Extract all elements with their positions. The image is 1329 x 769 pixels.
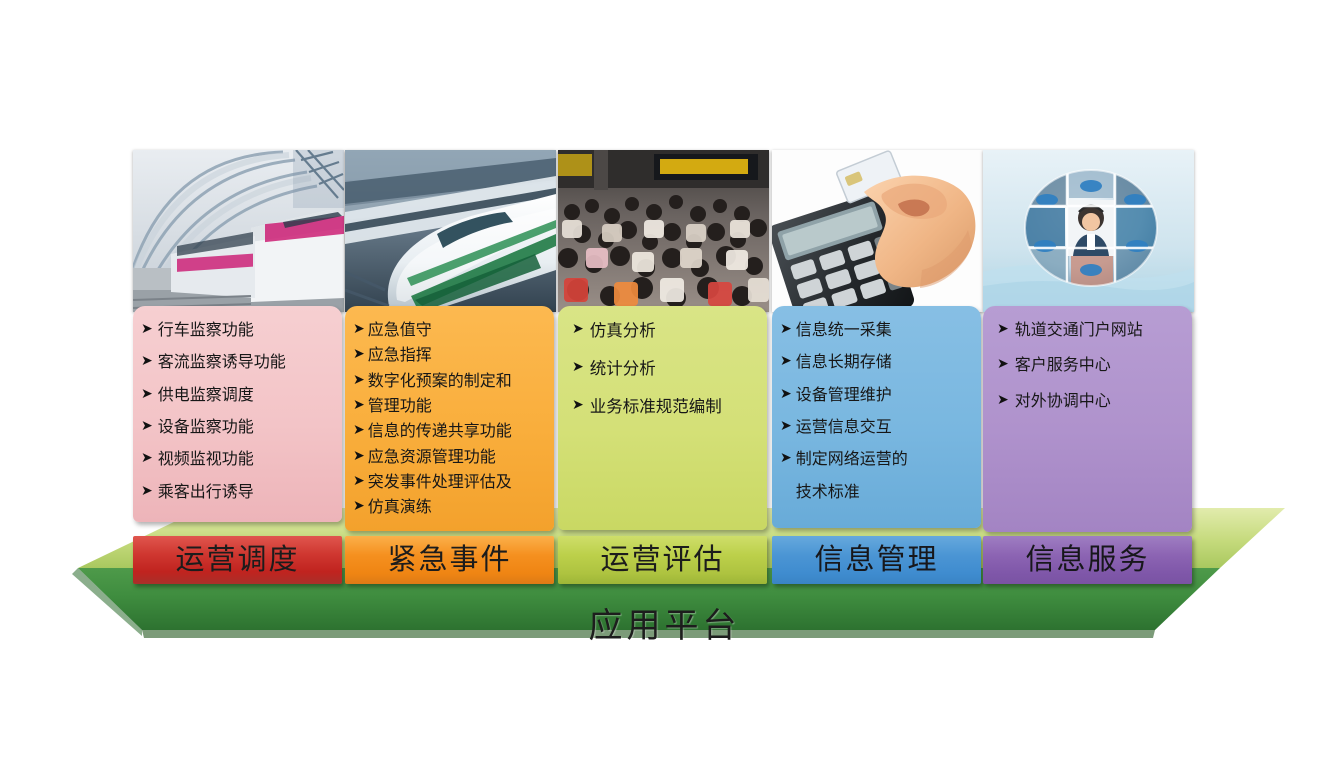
- list-item-label: 客流监察诱导功能: [158, 350, 336, 374]
- list-item-label: 应急资源管理功能: [368, 445, 548, 469]
- list-item-label: 设备管理维护: [796, 383, 975, 407]
- column-emergency-events: ➤ 应急值守 ➤ 应急指挥 ➤ 数字化预案的制定和 ➤ 管理功能: [345, 150, 560, 531]
- high-speed-train-photo: [345, 150, 556, 312]
- list-item-label: 轨道交通门户网站: [1015, 318, 1186, 342]
- list-item[interactable]: ➤ 数字化预案的制定和: [353, 369, 548, 393]
- pillar-label-emergency-events[interactable]: 紧急事件: [345, 536, 554, 584]
- arrow-bullet-icon: ➤: [780, 383, 792, 406]
- list-item[interactable]: ➤ 管理功能: [353, 394, 548, 418]
- platform-title: 应用平台: [0, 598, 1329, 647]
- arrow-bullet-icon: ➤: [353, 318, 365, 341]
- list-item[interactable]: ➤ 轨道交通门户网站: [997, 318, 1186, 342]
- column-operation-evaluation: ➤ 仿真分析 ➤ 统计分析 ➤ 业务标准规范编制: [558, 150, 773, 530]
- bullet-list-operation-dispatch: ➤ 行车监察功能 ➤ 客流监察诱导功能 ➤ 供电监察调度 ➤ 设备监察功能: [141, 318, 336, 504]
- arrow-bullet-icon: ➤: [997, 353, 1009, 376]
- list-item[interactable]: ➤ 视频监视功能: [141, 447, 336, 471]
- arrow-bullet-icon: ➤: [997, 318, 1009, 341]
- bullet-list-operation-evaluation: ➤ 仿真分析 ➤ 统计分析 ➤ 业务标准规范编制: [566, 318, 761, 419]
- column-operation-dispatch: ➤ 行车监察功能 ➤ 客流监察诱导功能 ➤ 供电监察调度 ➤ 设备监察功能: [133, 150, 348, 522]
- arrow-bullet-icon: ➤: [141, 480, 153, 503]
- column-information-management: ➤ 信息统一采集 ➤ 信息长期存储 ➤ 设备管理维护 ➤ 运营信息交互: [772, 150, 987, 528]
- list-item[interactable]: ➤ 仿真演练: [353, 495, 548, 519]
- arrow-bullet-icon: ➤: [353, 343, 365, 366]
- list-item-label: 突发事件处理评估及: [368, 470, 548, 494]
- pillar-label-text: 信息管理: [814, 545, 938, 576]
- arrow-bullet-icon: ➤: [353, 394, 365, 417]
- arrow-bullet-icon: ➤: [780, 350, 792, 373]
- bullet-list-information-service: ➤ 轨道交通门户网站 ➤ 客户服务中心 ➤ 对外协调中心: [997, 318, 1186, 413]
- list-item[interactable]: ➤ 信息统一采集: [780, 318, 975, 342]
- list-item[interactable]: ➤ 突发事件处理评估及: [353, 470, 548, 494]
- list-item[interactable]: ➤ 设备管理维护: [780, 383, 975, 407]
- list-item-label: 信息的传递共享功能: [368, 419, 548, 443]
- pillar-label-text: 运营评估: [600, 545, 724, 576]
- arrow-bullet-icon: ➤: [353, 470, 365, 493]
- subway-station-photo: [133, 150, 344, 312]
- list-item-label: 仿真分析: [590, 318, 761, 343]
- list-item[interactable]: ➤ 设备监察功能: [141, 415, 336, 439]
- pillar-columns: ➤ 行车监察功能 ➤ 客流监察诱导功能 ➤ 供电监察调度 ➤ 设备监察功能: [0, 0, 1329, 769]
- list-item[interactable]: ➤ 应急资源管理功能: [353, 445, 548, 469]
- pillar-label-information-management[interactable]: 信息管理: [772, 536, 981, 584]
- panel-information-management: ➤ 信息统一采集 ➤ 信息长期存储 ➤ 设备管理维护 ➤ 运营信息交互: [772, 306, 981, 528]
- list-item[interactable]: ➤ 信息的传递共享功能: [353, 419, 548, 443]
- list-item-label: 对外协调中心: [1015, 389, 1186, 413]
- list-item[interactable]: ➤ 客流监察诱导功能: [141, 350, 336, 374]
- list-item-label: 管理功能: [368, 394, 548, 418]
- pillar-label-text: 运营调度: [175, 545, 299, 576]
- list-item[interactable]: ➤ 统计分析: [572, 356, 761, 381]
- arrow-bullet-icon: ➤: [997, 389, 1009, 412]
- list-item[interactable]: ➤ 客户服务中心: [997, 353, 1186, 377]
- list-item-label: 应急值守: [368, 318, 548, 342]
- panel-information-service: ➤ 轨道交通门户网站 ➤ 客户服务中心 ➤ 对外协调中心: [983, 306, 1192, 532]
- list-item[interactable]: ➤ 仿真分析: [572, 318, 761, 343]
- list-item-label: 信息长期存储: [796, 350, 975, 374]
- pos-terminal-hand-photo: [772, 150, 983, 312]
- arrow-bullet-icon: ➤: [780, 415, 792, 438]
- list-item[interactable]: ➤ 应急值守: [353, 318, 548, 342]
- list-item-label: 信息统一采集: [796, 318, 975, 342]
- list-item-label: 客户服务中心: [1015, 353, 1186, 377]
- arrow-bullet-icon: ➤: [141, 350, 153, 373]
- list-item[interactable]: ➤ 技术标准: [780, 480, 975, 504]
- list-item-label: 供电监察调度: [158, 383, 336, 407]
- arrow-bullet-icon: ➤: [572, 394, 584, 417]
- crowded-platform-photo: [558, 150, 769, 312]
- panel-emergency-events: ➤ 应急值守 ➤ 应急指挥 ➤ 数字化预案的制定和 ➤ 管理功能: [345, 306, 554, 531]
- arrow-bullet-icon: ➤: [141, 318, 153, 341]
- arrow-bullet-icon: ➤: [572, 356, 584, 379]
- list-item[interactable]: ➤ 信息长期存储: [780, 350, 975, 374]
- arrow-bullet-icon: ➤: [353, 369, 365, 392]
- panel-operation-evaluation: ➤ 仿真分析 ➤ 统计分析 ➤ 业务标准规范编制: [558, 306, 767, 530]
- list-item-label: 运营信息交互: [796, 415, 975, 439]
- arrow-bullet-icon: ➤: [141, 447, 153, 470]
- pillar-label-text: 信息服务: [1025, 545, 1149, 576]
- list-item[interactable]: ➤ 业务标准规范编制: [572, 394, 761, 419]
- column-information-service: ➤ 轨道交通门户网站 ➤ 客户服务中心 ➤ 对外协调中心: [983, 150, 1198, 532]
- list-item[interactable]: ➤ 供电监察调度: [141, 383, 336, 407]
- arrow-bullet-icon: ➤: [572, 318, 584, 341]
- list-item[interactable]: ➤ 对外协调中心: [997, 389, 1186, 413]
- arrow-bullet-icon: ➤: [780, 318, 792, 341]
- arrow-bullet-icon: ➤: [780, 447, 792, 470]
- list-item[interactable]: ➤ 行车监察功能: [141, 318, 336, 342]
- list-item-label: 数字化预案的制定和: [368, 369, 548, 393]
- global-service-sphere-photo: [983, 150, 1194, 312]
- list-item-label: 技术标准: [796, 480, 975, 504]
- pillar-label-operation-dispatch[interactable]: 运营调度: [133, 536, 342, 584]
- list-item-label: 业务标准规范编制: [590, 394, 761, 419]
- list-item-label: 仿真演练: [368, 495, 548, 519]
- pillar-label-information-service[interactable]: 信息服务: [983, 536, 1192, 584]
- list-item-label: 应急指挥: [368, 343, 548, 367]
- bullet-list-information-management: ➤ 信息统一采集 ➤ 信息长期存储 ➤ 设备管理维护 ➤ 运营信息交互: [780, 318, 975, 504]
- list-item-label: 统计分析: [590, 356, 761, 381]
- arrow-bullet-icon: ➤: [353, 495, 365, 518]
- arrow-bullet-icon: ➤: [141, 415, 153, 438]
- list-item-label: 乘客出行诱导: [158, 480, 336, 504]
- arrow-bullet-icon: ➤: [353, 445, 365, 468]
- list-item[interactable]: ➤ 运营信息交互: [780, 415, 975, 439]
- list-item-label: 视频监视功能: [158, 447, 336, 471]
- arrow-bullet-icon: ➤: [353, 419, 365, 442]
- pillar-label-text: 紧急事件: [387, 545, 511, 576]
- panel-operation-dispatch: ➤ 行车监察功能 ➤ 客流监察诱导功能 ➤ 供电监察调度 ➤ 设备监察功能: [133, 306, 342, 522]
- list-item-label: 设备监察功能: [158, 415, 336, 439]
- bullet-list-emergency-events: ➤ 应急值守 ➤ 应急指挥 ➤ 数字化预案的制定和 ➤ 管理功能: [353, 318, 548, 520]
- list-item-label: 行车监察功能: [158, 318, 336, 342]
- list-item[interactable]: ➤ 应急指挥: [353, 343, 548, 367]
- diagram-canvas: 应用平台: [0, 0, 1329, 769]
- list-item-label: 制定网络运营的: [796, 447, 975, 471]
- pillar-label-operation-evaluation[interactable]: 运营评估: [558, 536, 767, 584]
- arrow-bullet-icon: ➤: [141, 383, 153, 406]
- list-item[interactable]: ➤ 制定网络运营的: [780, 447, 975, 471]
- list-item[interactable]: ➤ 乘客出行诱导: [141, 480, 336, 504]
